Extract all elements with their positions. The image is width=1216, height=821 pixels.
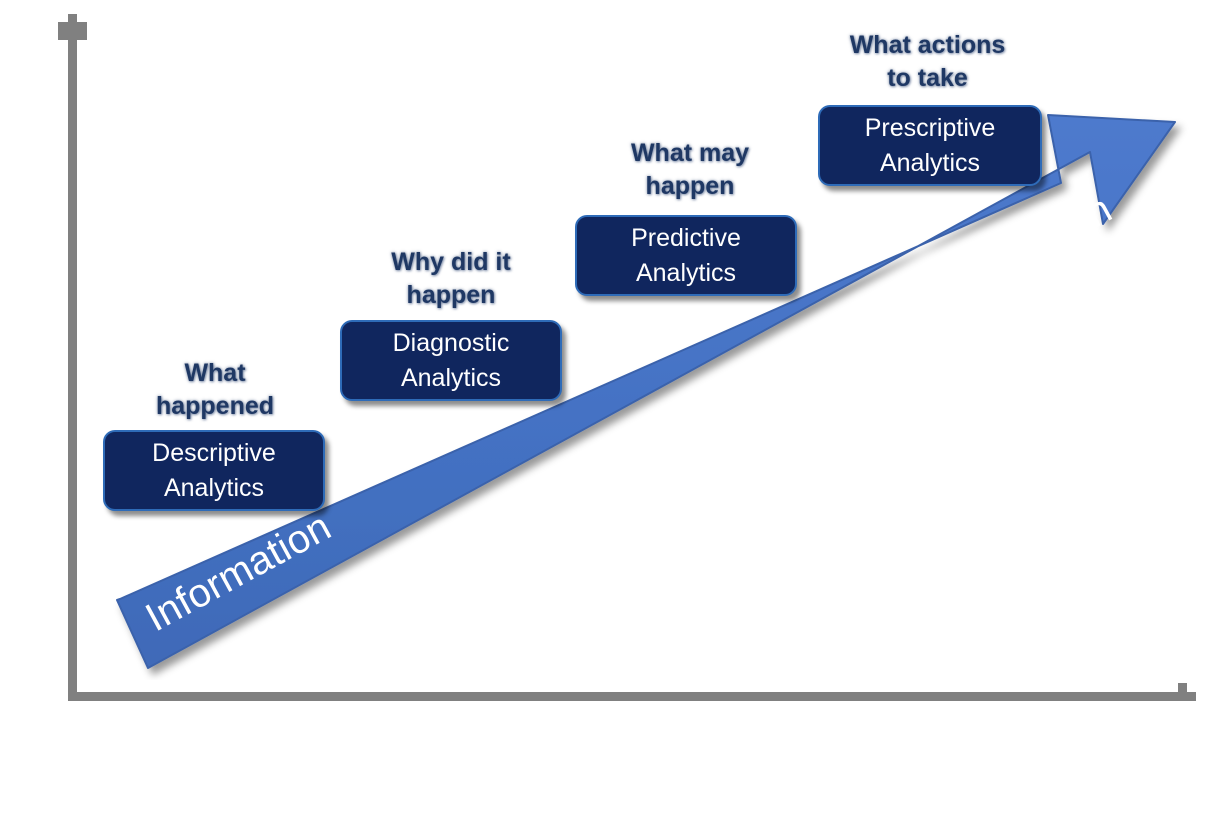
question-line-2: happened — [150, 390, 280, 423]
stage-box-descriptive[interactable]: Descriptive Analytics — [103, 430, 325, 511]
analytics-maturity-diagram: Information Optimization What happened D… — [0, 0, 1216, 821]
stage-box-prescriptive[interactable]: Prescriptive Analytics — [818, 105, 1042, 186]
question-line-1: Why did it — [381, 246, 521, 279]
question-label-predictive: What may happen — [620, 137, 760, 203]
stage-box-line-1: Predictive — [631, 221, 741, 256]
y-axis-arrowhead-icon — [58, 22, 87, 40]
arrow-caption-optimization: Optimization — [900, 187, 1120, 334]
question-line-2: to take — [845, 62, 1010, 95]
question-line-2: happen — [381, 279, 521, 312]
arrow-caption-information: Information — [139, 504, 339, 641]
stage-box-diagnostic[interactable]: Diagnostic Analytics — [340, 320, 562, 401]
question-label-diagnostic: Why did it happen — [381, 246, 521, 312]
question-line-2: happen — [620, 170, 760, 203]
stage-box-line-2: Analytics — [880, 146, 980, 181]
question-line-1: What — [150, 357, 280, 390]
stage-box-line-2: Analytics — [401, 361, 501, 396]
question-line-1: What actions — [845, 29, 1010, 62]
y-axis-line — [68, 30, 77, 697]
x-axis-arrowhead-icon — [1178, 683, 1187, 693]
question-label-prescriptive: What actions to take — [845, 29, 1010, 95]
stage-box-line-2: Analytics — [164, 471, 264, 506]
stage-box-line-1: Diagnostic — [393, 326, 510, 361]
question-line-1: What may — [620, 137, 760, 170]
x-axis-line — [68, 692, 1196, 701]
stage-box-line-2: Analytics — [636, 256, 736, 291]
stage-box-line-1: Descriptive — [152, 436, 276, 471]
stage-box-predictive[interactable]: Predictive Analytics — [575, 215, 797, 296]
stage-box-line-1: Prescriptive — [865, 111, 996, 146]
question-label-descriptive: What happened — [150, 357, 280, 423]
